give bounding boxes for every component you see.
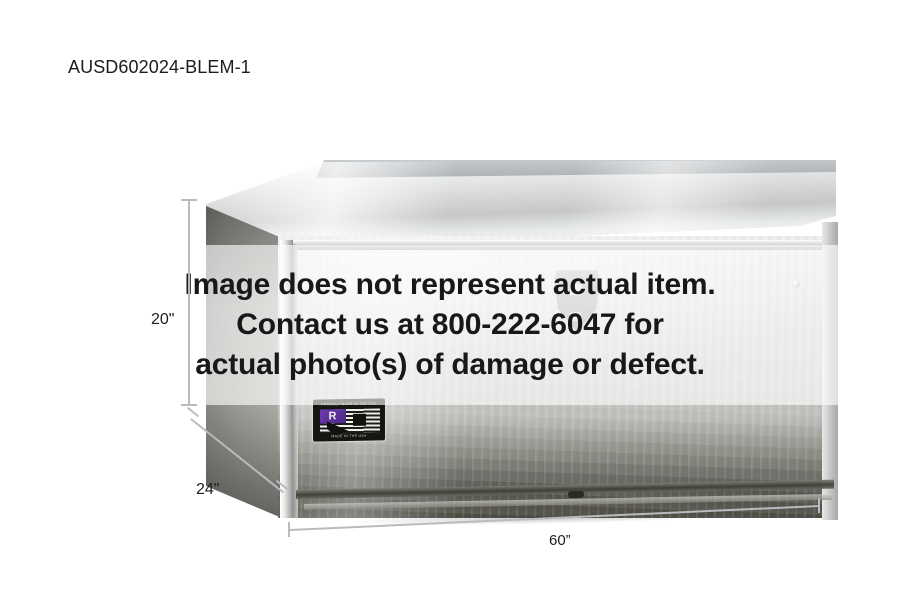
disclaimer-line-3: actual photo(s) of damage or defect. bbox=[195, 346, 705, 384]
height-tick-top bbox=[181, 199, 197, 201]
width-dimension-label: 60” bbox=[549, 532, 571, 549]
height-dimension-line bbox=[188, 200, 190, 405]
width-tick-right bbox=[818, 498, 820, 513]
disclaimer-line-2: Contact us at 800-222-6047 for bbox=[236, 306, 664, 344]
height-tick-bottom bbox=[181, 404, 197, 406]
decal-letter: R bbox=[324, 410, 341, 422]
hinge-knob-icon bbox=[568, 491, 584, 498]
page-title: AUSD602024-BLEM-1 bbox=[68, 57, 251, 78]
product-image: R PROUDLY MADE IN THE USA MADE IN THE US… bbox=[0, 120, 900, 580]
disclaimer-overlay: Image does not represent actual item. Co… bbox=[0, 245, 900, 405]
width-tick-left bbox=[288, 522, 290, 537]
decal-mark bbox=[353, 414, 366, 426]
depth-dimension-label: 24" bbox=[196, 481, 219, 499]
height-dimension-label: 20" bbox=[151, 311, 174, 329]
disclaimer-line-1: Image does not represent actual item. bbox=[184, 266, 715, 304]
decal-bottom-text: MADE IN THE USA bbox=[313, 433, 385, 438]
